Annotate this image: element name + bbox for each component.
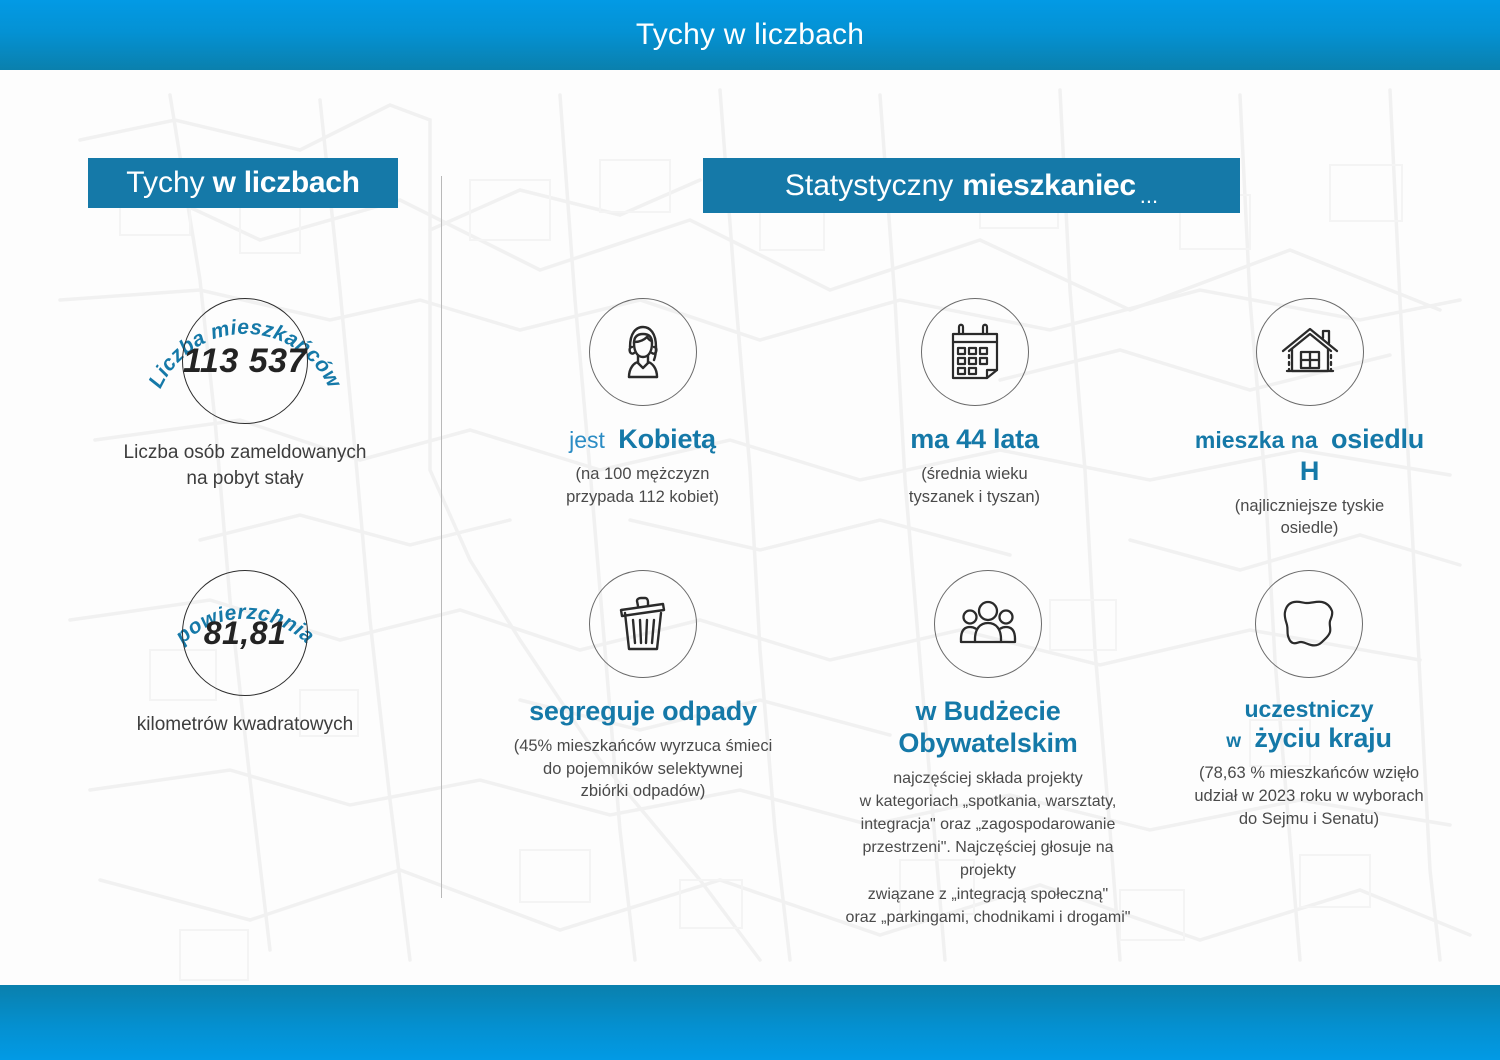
- estate-headline-bold: osiedlu H: [1300, 424, 1424, 486]
- trash-bin-icon-circle: [589, 570, 697, 678]
- estate-headline: mieszka na osiedlu H: [1182, 424, 1437, 488]
- budget-sub-line3: integracja" oraz „zagospodarowanie: [838, 813, 1138, 836]
- ribbon-right-bold: mieszkaniec: [962, 169, 1135, 203]
- card-waste: segreguje odpady (45% mieszkańców wyrzuc…: [512, 570, 774, 803]
- card-estate: mieszka na osiedlu H (najliczniejsze tys…: [1182, 298, 1437, 540]
- waste-subtext: (45% mieszkańców wyrzuca śmieci do pojem…: [512, 735, 774, 803]
- estate-subtext: (najliczniejsze tyskie osiedle): [1182, 495, 1437, 541]
- stat-population: Liczba mieszkańców 113 537 Liczba osób z…: [95, 276, 395, 491]
- woman-avatar-icon: [610, 319, 676, 385]
- population-value: 113 537: [183, 342, 307, 381]
- waste-headline: segreguje odpady: [512, 696, 774, 728]
- top-banner: Tychy w liczbach: [0, 0, 1500, 70]
- card-age: ma 44 lata (średnia wieku tyszanek i tys…: [862, 298, 1087, 508]
- budget-sub-line1: najczęściej składa projekty: [838, 767, 1138, 790]
- house-icon-circle: [1256, 298, 1364, 406]
- house-icon: [1277, 319, 1343, 385]
- woman-avatar-icon-circle: [589, 298, 697, 406]
- woman-headline-light: jest: [569, 427, 605, 453]
- population-caption: Liczba osób zameldowanych na pobyt stały: [95, 440, 395, 491]
- people-group-icon: [955, 591, 1021, 657]
- ribbon-right-regular: Statystyczny: [785, 169, 953, 203]
- woman-headline-bold: Kobietą: [618, 424, 716, 454]
- country-headline-line1: uczestniczy: [1244, 696, 1373, 722]
- budget-sub-line5: związane z „integracją społeczną": [838, 883, 1138, 906]
- ribbon-right-dots: ...: [1140, 183, 1158, 213]
- woman-sub-line2: przypada 112 kobiet): [530, 486, 755, 509]
- trash-bin-icon: [612, 593, 674, 655]
- bottom-banner: [0, 985, 1500, 1060]
- ribbon-left-heading: Tychy w liczbach: [88, 158, 398, 208]
- country-sub-line2: udział w 2023 roku w wyborach: [1180, 785, 1438, 808]
- calendar-icon: [943, 320, 1007, 384]
- country-sub-line1: (78,63 % mieszkańców wzięło: [1180, 762, 1438, 785]
- country-headline: uczestniczy w życiu kraju: [1180, 696, 1438, 755]
- population-caption-line2: na pobyt stały: [95, 466, 395, 492]
- page-title: Tychy w liczbach: [636, 18, 864, 52]
- waste-sub-line1: (45% mieszkańców wyrzuca śmieci: [512, 735, 774, 758]
- age-subtext: (średnia wieku tyszanek i tyszan): [862, 463, 1087, 509]
- country-headline-line2: życiu kraju: [1254, 723, 1391, 753]
- ribbon-left-bold: w liczbach: [213, 166, 360, 200]
- budget-sub-line6: oraz „parkingami, chodnikami i drogami": [838, 906, 1138, 929]
- woman-sub-line1: (na 100 mężczyzn: [530, 463, 755, 486]
- waste-sub-line3: zbiórki odpadów): [512, 780, 774, 803]
- area-caption-line1: kilometrów kwadratowych: [95, 712, 395, 738]
- stat-area: powierzchnia 81,81 kilometrów kwadratowy…: [95, 548, 395, 738]
- estate-sub-line1: (najliczniejsze tyskie: [1182, 495, 1437, 518]
- card-country: uczestniczy w życiu kraju (78,63 % miesz…: [1180, 570, 1438, 830]
- population-circle: 113 537: [182, 298, 308, 424]
- budget-headline-line1: w Budżecie: [915, 696, 1060, 726]
- card-budget: w Budżecie Obywatelskim najczęściej skła…: [838, 570, 1138, 929]
- estate-sub-line2: osiedle): [1182, 517, 1437, 540]
- estate-headline-light: mieszka na: [1195, 427, 1318, 453]
- budget-sub-line2: w kategoriach „spotkania, warsztaty,: [838, 790, 1138, 813]
- people-group-icon-circle: [934, 570, 1042, 678]
- ribbon-right-heading: Statystyczny mieszkaniec ...: [703, 158, 1240, 213]
- woman-subtext: (na 100 mężczyzn przypada 112 kobiet): [530, 463, 755, 509]
- country-subtext: (78,63 % mieszkańców wzięło udział w 202…: [1180, 762, 1438, 830]
- ribbon-left-regular: Tychy: [126, 166, 204, 200]
- age-headline: ma 44 lata: [862, 424, 1087, 456]
- age-sub-line1: (średnia wieku: [862, 463, 1087, 486]
- infographic-page: Tychy w liczbach Tychy w liczbach Statys…: [0, 0, 1500, 1060]
- poland-map-icon: [1277, 594, 1341, 654]
- area-circle: 81,81: [182, 570, 308, 696]
- budget-sub-line4: przestrzeni". Najczęściej głosuje na pro…: [838, 836, 1138, 882]
- area-circle-wrap: powierzchnia 81,81: [95, 548, 395, 698]
- budget-headline: w Budżecie Obywatelskim: [838, 696, 1138, 760]
- column-divider: [441, 176, 442, 898]
- woman-headline: jest Kobietą: [530, 424, 755, 456]
- waste-sub-line2: do pojemników selektywnej: [512, 758, 774, 781]
- country-sub-line3: do Sejmu i Senatu): [1180, 808, 1438, 831]
- country-headline-light: w: [1226, 731, 1241, 752]
- poland-map-icon-circle: [1255, 570, 1363, 678]
- calendar-icon-circle: [921, 298, 1029, 406]
- population-caption-line1: Liczba osób zameldowanych: [95, 440, 395, 466]
- area-caption: kilometrów kwadratowych: [95, 712, 395, 738]
- population-circle-wrap: Liczba mieszkańców 113 537: [95, 276, 395, 426]
- age-sub-line2: tyszanek i tyszan): [862, 486, 1087, 509]
- budget-subtext: najczęściej składa projekty w kategoriac…: [838, 767, 1138, 929]
- area-value: 81,81: [204, 615, 287, 652]
- budget-headline-line2: Obywatelskim: [898, 728, 1077, 758]
- waste-headline-bold: segreguje odpady: [529, 696, 757, 726]
- age-headline-bold: ma 44 lata: [910, 424, 1039, 454]
- card-woman: jest Kobietą (na 100 mężczyzn przypada 1…: [530, 298, 755, 508]
